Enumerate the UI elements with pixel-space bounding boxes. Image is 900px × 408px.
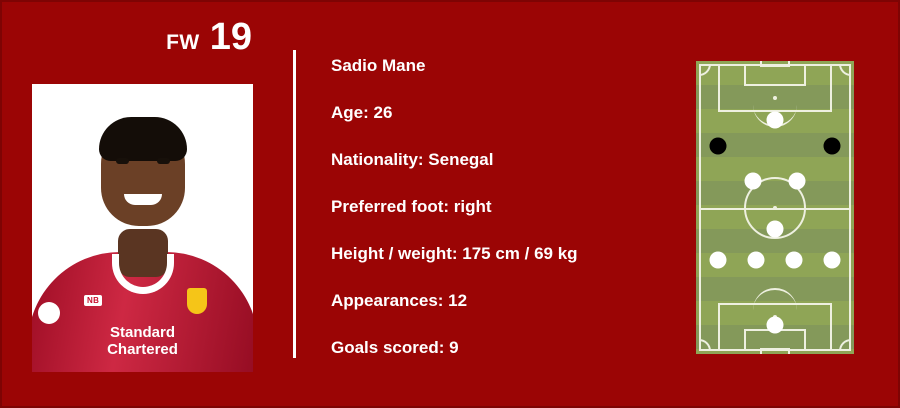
shirt-number: 19 — [210, 16, 252, 58]
position-marker-left-winger — [710, 137, 727, 154]
stat-goals-scored: Goals scored: 9 — [331, 336, 691, 359]
stat-player-name: Sadio Mane — [331, 54, 691, 77]
position-marker-goalkeeper — [767, 316, 784, 333]
stat-age: Age: 26 — [331, 101, 691, 124]
sponsor-line-1: Standard — [107, 324, 178, 341]
position-marker-right-winger — [823, 137, 840, 154]
stat-appearances: Appearances: 12 — [331, 289, 691, 312]
stat-nationality: Nationality: Senegal — [331, 148, 691, 171]
top-six-yard-box — [744, 64, 806, 86]
position-marker-left-back — [710, 252, 727, 269]
player-portrait: NB Standard Chartered — [32, 84, 253, 372]
position-marker-centre-forward — [767, 111, 784, 128]
right-eye-shape — [157, 158, 170, 164]
centre-spot — [773, 206, 777, 210]
kit-brand-logo: NB — [84, 295, 102, 306]
player-profile-card: FW19 NB Standard Chartered Sadio Mane Ag… — [0, 0, 900, 408]
position-marker-left-centre-back — [748, 252, 765, 269]
jersey-sponsor-text: Standard Chartered — [107, 324, 178, 358]
premier-league-badge-icon — [38, 302, 60, 324]
top-goal — [760, 61, 790, 67]
pitch-surface — [696, 61, 854, 354]
club-crest-icon — [187, 288, 207, 314]
position-marker-right-centre-back — [785, 252, 802, 269]
player-photo-column: FW19 NB Standard Chartered — [2, 2, 294, 408]
position-abbreviation: FW — [166, 31, 200, 54]
sponsor-line-2: Chartered — [107, 341, 178, 358]
hair-shape — [99, 117, 187, 161]
bottom-goal — [760, 348, 790, 354]
stat-preferred-foot: Preferred foot: right — [331, 195, 691, 218]
position-marker-left-midfield — [744, 173, 761, 190]
position-marker-right-back — [823, 252, 840, 269]
position-marker-holding-midfield — [767, 221, 784, 238]
position-and-number-badge: FW19 — [2, 18, 252, 56]
formation-pitch — [696, 61, 854, 354]
position-marker-right-midfield — [789, 173, 806, 190]
player-stats-list: Sadio Mane Age: 26 Nationality: Senegal … — [331, 54, 691, 359]
stat-height-weight: Height / weight: 175 cm / 69 kg — [331, 242, 691, 265]
vertical-divider — [293, 50, 296, 358]
smile-shape — [124, 194, 162, 205]
left-eye-shape — [116, 158, 129, 164]
